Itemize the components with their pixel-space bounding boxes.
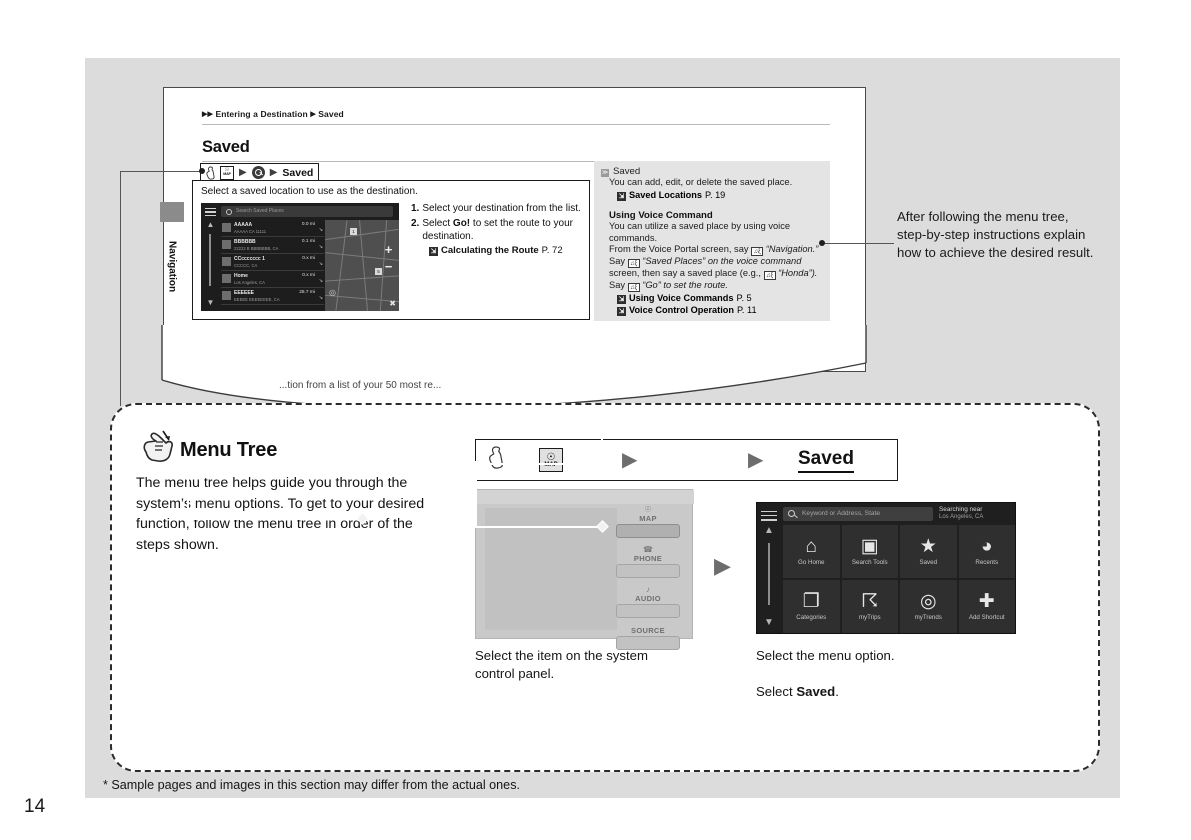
- step-1: 1. Select your destination from the list…: [411, 203, 583, 216]
- tile-mytrends[interactable]: ◎ myTrends: [900, 580, 957, 633]
- xref-voice-control-operation[interactable]: ⇲ Voice Control Operation P. 11: [617, 305, 823, 316]
- list-item-name: AAAAA: [234, 222, 252, 228]
- caption-menu-option: Select the menu option.: [756, 647, 986, 665]
- tree-arrow-2-icon: ▶: [270, 168, 278, 178]
- breadcrumb-divider: [202, 124, 830, 125]
- search-circle-icon: [252, 166, 265, 179]
- list-item-distance: 25.7 mi: [299, 290, 315, 295]
- tile-search-tools[interactable]: ▣ Search Tools: [842, 525, 899, 578]
- list-item-sub: EEEEE EEEEEEEE, CA: [234, 297, 280, 302]
- list-item-thumb: [222, 274, 231, 283]
- menu-tile-grid: ⌂ Go Home ▣ Search Tools ★ Saved ◕ Recen…: [783, 525, 1015, 633]
- menu-tree-heading: Menu Tree: [140, 430, 277, 471]
- connector-saved-v: [475, 461, 477, 527]
- list-item-sub: CCCCC, CA: [234, 263, 257, 268]
- saved-content-box: Select a saved location to use as the de…: [192, 180, 590, 320]
- list-item-name: BBBBBB: [234, 239, 256, 245]
- phone-glyph-icon: ☎: [612, 546, 684, 554]
- note-voice-line-c: Say ♫ξ “Go” to set the route.: [609, 280, 823, 292]
- map-close-icon[interactable]: ✖: [389, 299, 396, 308]
- note-body-2: You can utilize a saved place by using v…: [609, 221, 823, 245]
- control-panel-buttons: ☉ MAP ☎ PHONE ♪ AUDIO SOURCE: [612, 506, 684, 658]
- scroll-down-icon[interactable]: ▼: [759, 617, 779, 628]
- note-header: ≫ Saved: [601, 166, 823, 177]
- leader-line-left-h: [120, 171, 202, 172]
- section-title-saved: Saved: [202, 138, 250, 157]
- step-1-text: Select your destination from the list.: [422, 203, 580, 216]
- list-item-thumb: [222, 257, 231, 266]
- caption-control-panel: Select the item on the system control pa…: [475, 647, 685, 683]
- music-note-icon: ♪: [612, 586, 684, 594]
- tile-label: Saved: [919, 559, 937, 566]
- xref-page: P. 19: [705, 190, 725, 200]
- step-1-number: 1.: [411, 203, 419, 216]
- side-tab-label: Navigation: [160, 222, 184, 312]
- direction-arrow-icon: ↘: [319, 278, 323, 284]
- scroll-up-icon[interactable]: ▲: [759, 525, 779, 536]
- saved-list[interactable]: AAAAA AAAAA CA 11111 0.0 mi ↘ BBBBBB 222…: [221, 220, 324, 305]
- scroll-up-icon[interactable]: ▲: [203, 220, 218, 229]
- scroll-down-icon[interactable]: ▼: [203, 298, 218, 307]
- tile-label: Categories: [796, 614, 826, 621]
- voice-tag-icon: ♫ξ: [764, 271, 776, 280]
- list-item-name: CCccccccc 1: [234, 256, 265, 262]
- map-pin-1: 1: [350, 228, 357, 235]
- list-item-sub: Los Angeles, CA: [234, 280, 265, 285]
- flow-arrow-icon: ▶: [714, 553, 731, 579]
- map-button-icon: ☉ MAP: [216, 356, 230, 370]
- section-title-recents: Recents: [202, 328, 265, 347]
- list-item-name: Home: [234, 273, 248, 279]
- xref-label: Voice Control Operation: [629, 305, 734, 315]
- saved-search-placeholder: Search Saved Places: [236, 208, 284, 214]
- tile-label: myTrips: [859, 614, 881, 621]
- tree-arrow-1-icon: ▶: [235, 358, 243, 368]
- menu-burger-icon: [204, 206, 217, 217]
- tile-mytrips[interactable]: ☈ myTrips: [842, 580, 899, 633]
- search-tools-icon: ▣: [861, 537, 879, 556]
- search-handle-icon: [794, 515, 798, 519]
- xref-saved-locations[interactable]: ⇲ Saved Locations P. 19: [617, 190, 823, 201]
- footnote-text: * Sample pages and images in this sectio…: [103, 778, 520, 792]
- breadcrumb-part-1: Entering a Destination: [215, 109, 307, 119]
- screen-search-field[interactable]: Keyword or Address, State: [783, 507, 933, 521]
- clock-icon: ◕: [981, 537, 992, 556]
- xref-using-voice-commands[interactable]: ⇲ Using Voice Commands P. 5: [617, 293, 823, 304]
- saved-lead-text: Select a saved location to use as the de…: [201, 186, 418, 197]
- screen-scroll-rail[interactable]: ▲ ▼: [759, 525, 779, 631]
- section-divider-2: [202, 351, 830, 352]
- hand-pointer-icon: [202, 356, 211, 370]
- tile-saved[interactable]: ★ Saved: [900, 525, 957, 578]
- saved-search-field: Search Saved Places: [221, 206, 393, 217]
- leader-line-left-v: [120, 171, 121, 406]
- list-item-distance: 0.x mi: [302, 273, 315, 278]
- search-circle-icon: [248, 356, 261, 369]
- direction-arrow-icon: ↘: [319, 227, 323, 233]
- note-subheading: Using Voice Command: [609, 210, 823, 221]
- tile-add-shortcut[interactable]: ✚ Add Shortcut: [959, 580, 1016, 633]
- tree-end-label-recents: Recents: [278, 357, 319, 369]
- list-item-sub: 22222 B BBBBBBB, CA: [234, 246, 278, 251]
- connector-saved-top-v: [601, 425, 603, 465]
- menu-tree-arrow-1-icon: ▶: [622, 450, 637, 470]
- xref-page: P. 11: [737, 305, 757, 315]
- leader-dot-right: [819, 240, 825, 246]
- search-placeholder: Keyword or Address, State: [802, 510, 880, 517]
- xref-arrow-icon: ⇲: [429, 247, 438, 256]
- breadcrumb: ▶▶ Entering a Destination ▶ Saved: [202, 109, 344, 119]
- voice-tag-icon: ♫ξ: [628, 283, 640, 292]
- note-marker-icon: ≫: [601, 169, 609, 177]
- leader-line-right: [822, 243, 894, 244]
- note-voice-line-a: From the Voice Portal screen, say ♫ξ “Na…: [609, 244, 823, 256]
- control-button-label: PHONE: [612, 554, 684, 563]
- tile-go-home[interactable]: ⌂ Go Home: [783, 525, 840, 578]
- list-item[interactable]: Home Los Angeles, CA 0.x mi ↘: [221, 271, 324, 288]
- xref-arrow-icon: ⇲: [617, 307, 626, 316]
- list-item[interactable]: CCccccccc 1 CCCCC, CA 0.x mi ↘: [221, 254, 324, 271]
- categories-icon: ❐: [803, 592, 820, 611]
- tile-label: Go Home: [798, 559, 824, 566]
- step-instructions: 1. Select your destination from the list…: [411, 203, 583, 258]
- connector-map-v: [187, 465, 189, 519]
- menu-tree-bar: ☉ MAP ▶ ▶ Saved: [475, 439, 898, 481]
- map-button-icon[interactable]: ☉ MAP: [539, 448, 563, 472]
- xref-page: P. 5: [737, 293, 752, 303]
- control-button-audio[interactable]: ♪ AUDIO: [612, 586, 684, 618]
- list-item-distance: 0.1 mi: [302, 239, 315, 244]
- leader-dot-left: [199, 168, 205, 174]
- control-button-label: AUDIO: [612, 594, 684, 603]
- menu-tree-end-label: Saved: [798, 448, 854, 473]
- control-button-map[interactable]: ☉ MAP: [612, 506, 684, 538]
- star-icon: ★: [920, 537, 937, 556]
- note-body-1: You can add, edit, or delete the saved p…: [609, 177, 823, 189]
- xref-arrow-icon: ⇲: [617, 192, 626, 201]
- xref-arrow-icon: ⇲: [617, 295, 626, 304]
- scroll-thumb[interactable]: [768, 543, 770, 605]
- connector-saved-top-h: [475, 463, 603, 465]
- zoom-in-button[interactable]: +: [383, 245, 394, 256]
- plus-icon: ✚: [979, 592, 995, 611]
- connector-map-h: [187, 518, 362, 520]
- map-pin-2: 5: [375, 268, 382, 275]
- map-button-icon: ☉ MAP: [220, 166, 234, 180]
- hand-pointer-icon: [206, 166, 215, 180]
- tile-label: myTrends: [915, 614, 942, 621]
- step-2-text: Select Go! to set the route to your dest…: [422, 218, 583, 244]
- control-button-key[interactable]: [616, 564, 680, 578]
- control-panel-top-strip: [476, 490, 694, 504]
- tree-arrow-1-icon: ▶: [239, 168, 247, 178]
- xref-label: Saved Locations: [629, 190, 702, 200]
- list-item-thumb: [222, 240, 231, 249]
- map-preview[interactable]: 1 5 + − ◎ ✖: [325, 220, 399, 311]
- tree-end-label-saved: Saved: [282, 167, 313, 179]
- control-button-label: SOURCE: [612, 626, 684, 635]
- breadcrumb-separator-icon: ▶: [310, 111, 315, 118]
- sample-manual-page: ▶▶ Entering a Destination ▶ Saved Saved …: [163, 87, 866, 372]
- breadcrumb-part-2: Saved: [318, 109, 344, 119]
- connector-saved-h: [475, 526, 602, 528]
- right-annotation-text: After following the menu tree, step-by-s…: [897, 208, 1097, 263]
- voice-tag-icon: ♫ξ: [751, 247, 763, 256]
- tile-label: Search Tools: [852, 559, 888, 566]
- hand-pointer-icon: [488, 445, 504, 476]
- caption-select-saved: Select Saved.: [756, 683, 986, 701]
- scroll-thumb[interactable]: [209, 234, 211, 286]
- menu-tree-arrow-2-icon: ▶: [748, 450, 763, 470]
- xref-label: Calculating the Route: [441, 245, 539, 257]
- voice-tag-icon: ♫ξ: [628, 259, 640, 268]
- direction-arrow-icon: ↘: [319, 261, 323, 267]
- page-number: 14: [24, 796, 45, 818]
- list-item-thumb: [222, 223, 231, 232]
- step-2-number: 2.: [411, 218, 419, 244]
- map-marker-icon: ◎: [329, 288, 336, 297]
- xref-page: P. 72: [542, 245, 563, 257]
- control-button-key[interactable]: [616, 604, 680, 618]
- menu-tree-description: The menu tree helps guide you through th…: [136, 473, 436, 555]
- note-voice-line-b: Say ♫ξ “Saved Places” on the voice comma…: [609, 256, 823, 280]
- tree-arrow-2-icon: ▶: [266, 358, 274, 368]
- side-tab-block: [160, 202, 184, 222]
- xref-label: Using Voice Commands: [629, 293, 734, 303]
- xref-calculating-route[interactable]: ⇲ Calculating the Route P. 72: [429, 245, 583, 257]
- list-item-thumb: [222, 291, 231, 300]
- home-icon: ⌂: [806, 537, 817, 556]
- side-note-panel: ≫ Saved You can add, edit, or delete the…: [594, 161, 830, 321]
- tile-label: Recents: [975, 559, 998, 566]
- step-2: 2. Select Go! to set the route to your d…: [411, 218, 583, 244]
- list-item-name: EEEEEE: [234, 290, 254, 296]
- breadcrumb-arrow-icon: ▶▶: [202, 111, 213, 118]
- hand-pointer-icon: [140, 430, 178, 471]
- control-button-key[interactable]: [616, 524, 680, 538]
- system-control-panel-image: ☉ MAP ☎ PHONE ♪ AUDIO SOURCE: [475, 489, 693, 639]
- direction-arrow-icon: ↘: [319, 244, 323, 250]
- navigation-menu-screenshot: ▲ ▼ Keyword or Address, State Searching …: [756, 502, 1016, 634]
- control-button-phone[interactable]: ☎ PHONE: [612, 546, 684, 578]
- map-glyph-icon: ☉: [612, 506, 684, 514]
- list-item-distance: 0.x mi: [302, 256, 315, 261]
- list-item[interactable]: EEEEEE EEEEE EEEEEEEE, CA 25.7 mi ↘: [221, 288, 324, 305]
- saved-list-screenshot: Search Saved Places ▲ ▼ AAAAA AAAAA CA 1…: [201, 203, 399, 311]
- tile-recents[interactable]: ◕ Recents: [959, 525, 1016, 578]
- direction-arrow-icon: ↘: [319, 295, 323, 301]
- list-item[interactable]: AAAAA AAAAA CA 11111 0.0 mi ↘: [221, 220, 324, 237]
- zoom-out-button[interactable]: −: [383, 262, 394, 273]
- list-item-distance: 0.0 mi: [302, 222, 315, 227]
- tile-categories[interactable]: ❐ Categories: [783, 580, 840, 633]
- menu-tree-title: Menu Tree: [180, 439, 277, 462]
- saved-scroll-rail[interactable]: ▲ ▼: [203, 220, 218, 308]
- tile-label: Add Shortcut: [969, 614, 1005, 621]
- trends-icon: ◎: [920, 592, 937, 611]
- note-header-label: Saved: [613, 166, 640, 177]
- searching-near-label: Searching near Los Angeles, CA: [939, 506, 983, 521]
- control-button-label: MAP: [612, 514, 684, 523]
- menu-burger-icon[interactable]: [761, 508, 777, 520]
- list-item[interactable]: BBBBBB 22222 B BBBBBBB, CA 0.1 mi ↘: [221, 237, 324, 254]
- menu-tree-strip-recents: ☉ MAP ▶ ▶ Recents: [202, 353, 324, 372]
- search-icon: [226, 209, 232, 215]
- list-item-sub: AAAAA CA 11111: [234, 229, 266, 234]
- trips-icon: ☈: [861, 592, 878, 611]
- menu-tree-panel: Menu Tree The menu tree helps guide you …: [110, 403, 1100, 772]
